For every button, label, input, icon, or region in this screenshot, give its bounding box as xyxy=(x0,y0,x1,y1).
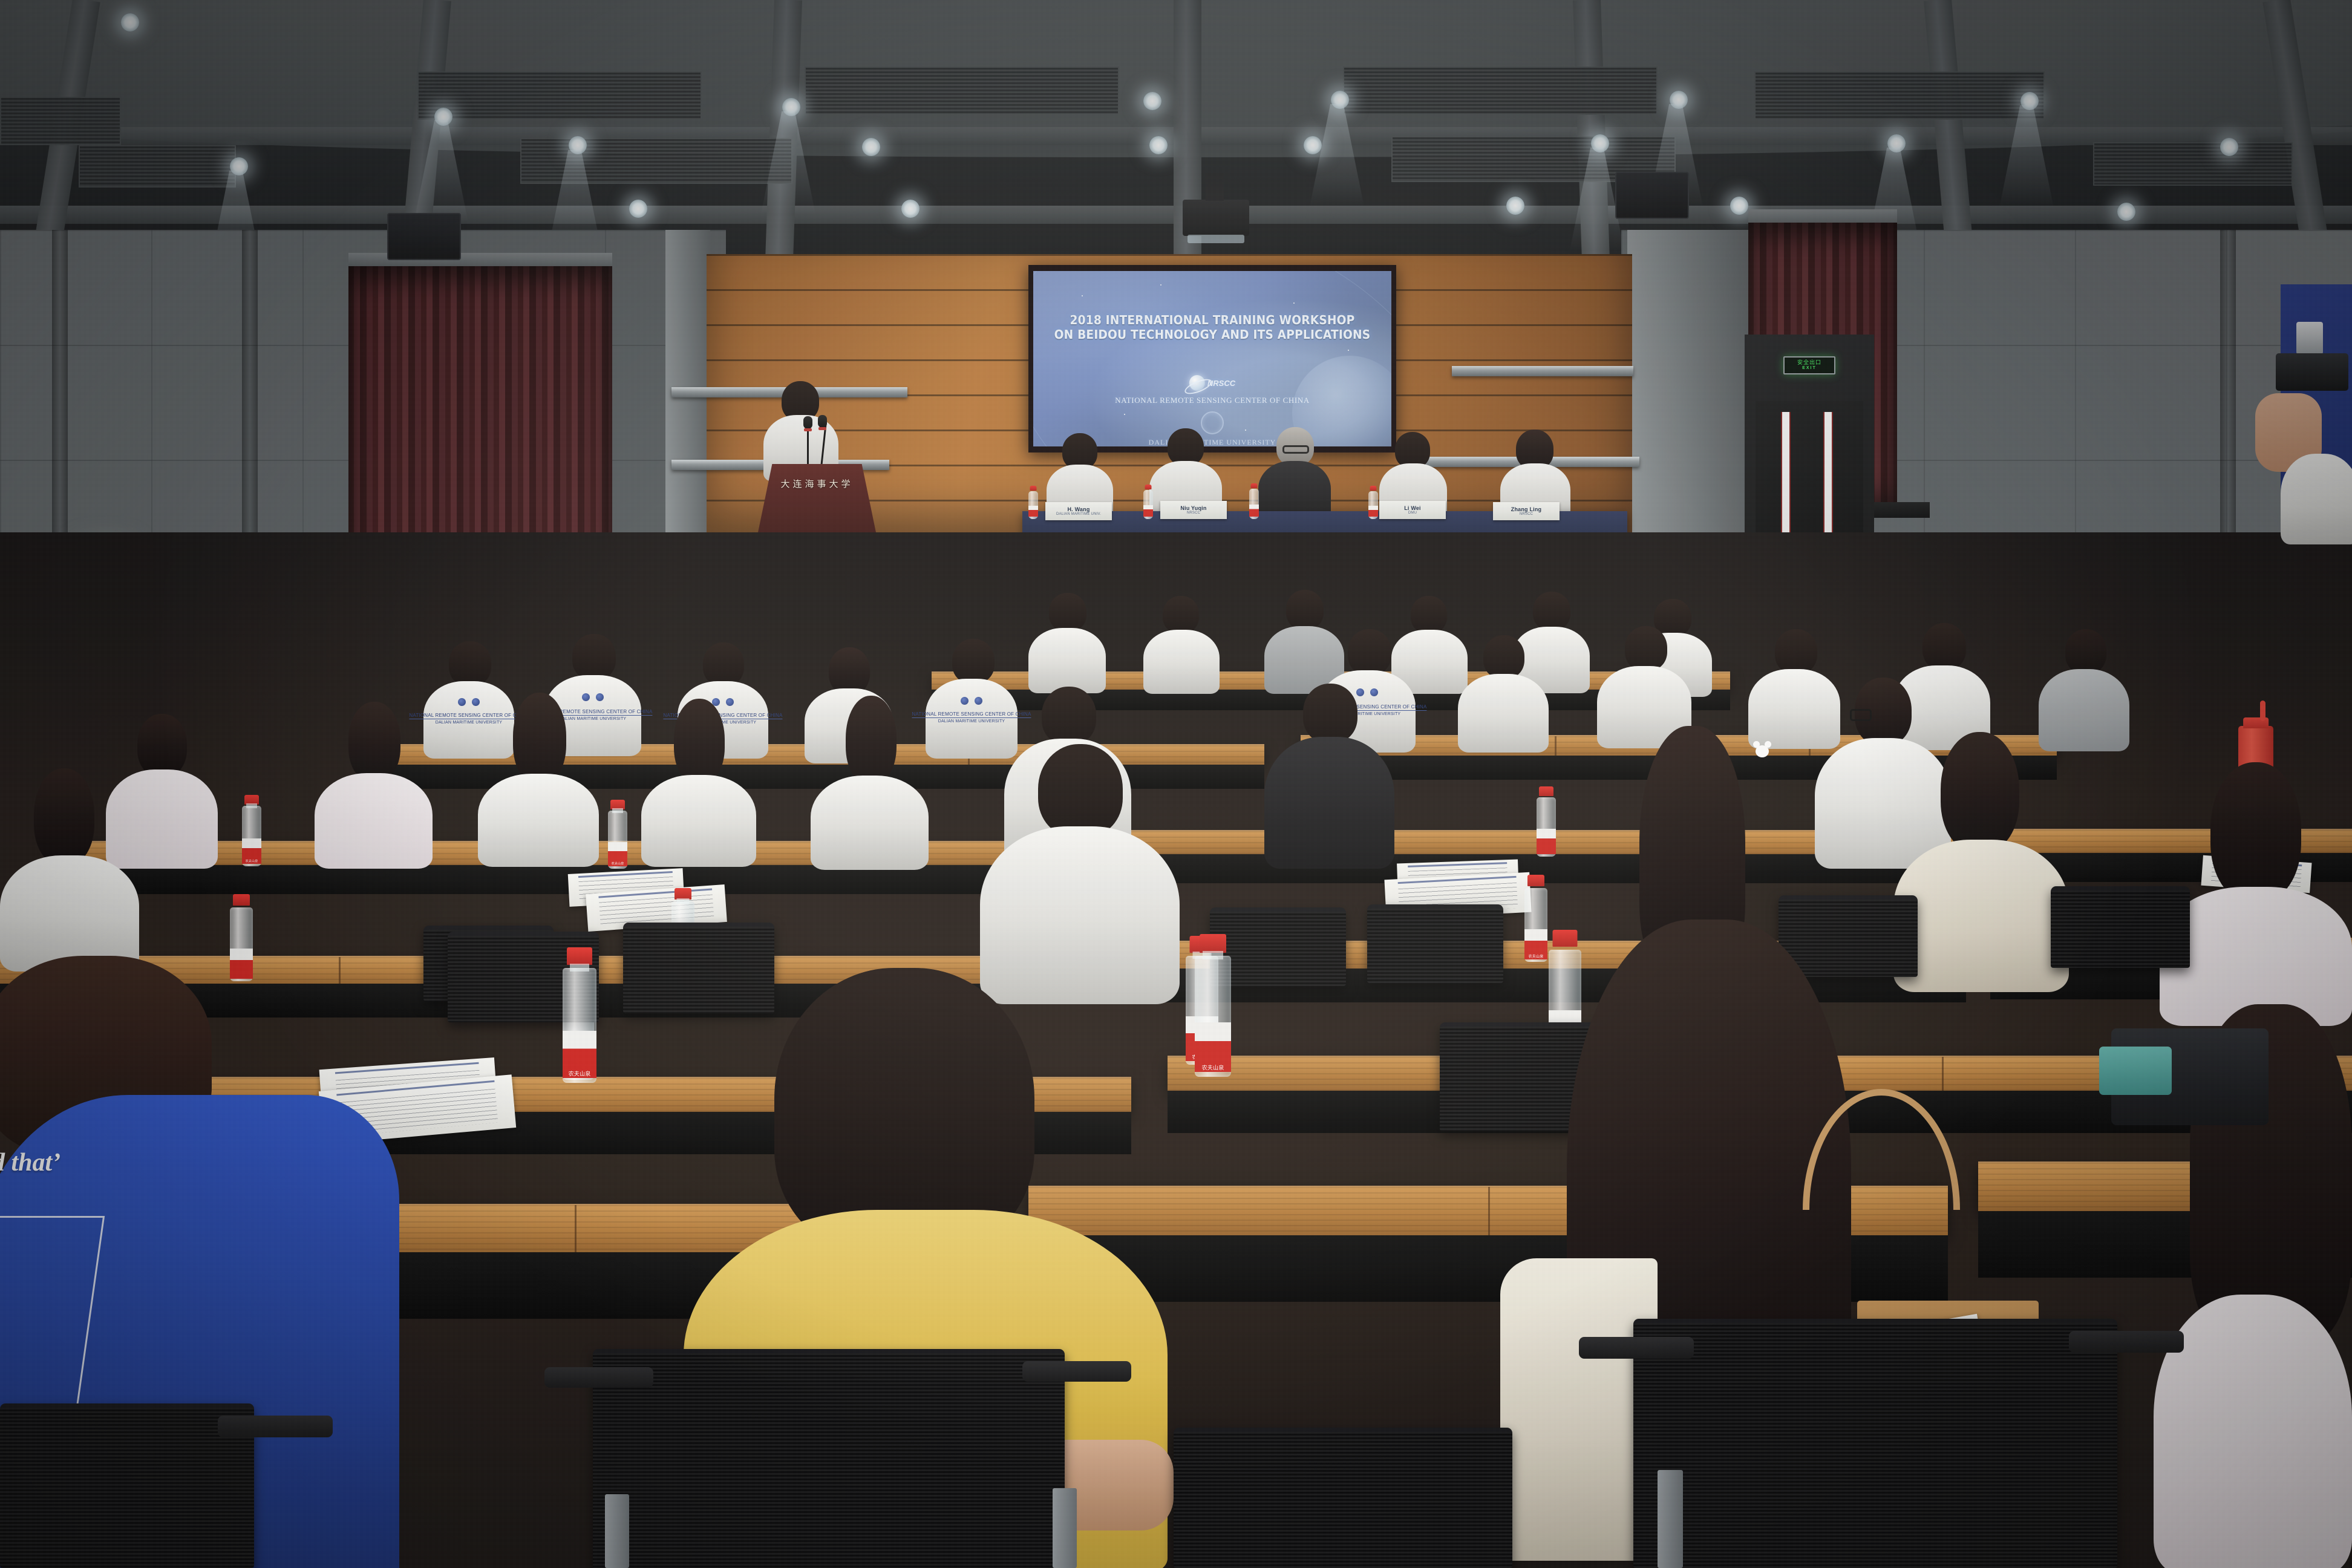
door-light-strip xyxy=(1823,412,1833,540)
elevator-doorway: 安全出口 EXIT xyxy=(1745,335,1874,534)
attendee-head xyxy=(829,647,870,694)
chair-foreground[interactable] xyxy=(0,1403,254,1568)
attendee-head xyxy=(1941,732,2019,852)
wall-speaker xyxy=(387,213,461,260)
ceiling-air-vent xyxy=(79,145,236,188)
bottle-brand: 农夫山泉 xyxy=(242,859,261,863)
panelist-head xyxy=(1395,432,1430,468)
nrscc-logo-text: NRSCC xyxy=(1207,379,1235,388)
ceiling-downlight xyxy=(782,98,800,116)
nrscc-logo: NRSCC xyxy=(1189,375,1235,391)
ceiling-downlight xyxy=(1730,197,1748,215)
exit-sign-chinese: 安全出口 xyxy=(1797,360,1821,365)
chair[interactable] xyxy=(1367,904,1503,983)
water-bottle[interactable]: 农夫山泉 xyxy=(1195,956,1231,1077)
exit-sign: 安全出口 EXIT xyxy=(1783,356,1835,374)
chair-post xyxy=(605,1494,629,1568)
chair-foreground[interactable] xyxy=(593,1349,1065,1568)
chair-armrest[interactable] xyxy=(1579,1337,1694,1359)
attendee-torso xyxy=(315,773,433,869)
ceiling-downlight xyxy=(230,157,248,175)
placard-name-text: H. Wang xyxy=(1067,506,1089,512)
chair-foreground[interactable] xyxy=(1174,1428,1512,1568)
curtain-rail xyxy=(1748,209,1897,223)
ceiling-downlight xyxy=(121,13,139,31)
attendee-torso xyxy=(1264,737,1394,869)
attendee-head xyxy=(34,768,94,865)
attendee-head xyxy=(1625,626,1667,671)
chair-post xyxy=(1658,1470,1683,1568)
water-bottle xyxy=(1368,491,1378,519)
ceiling-downlight xyxy=(2020,92,2039,110)
attendee xyxy=(1264,684,1394,865)
ceiling-downlight xyxy=(2117,203,2135,221)
ceiling-downlight xyxy=(1149,136,1168,154)
ceiling-downlight xyxy=(1506,197,1524,215)
water-bottle[interactable]: 农夫山泉 xyxy=(608,811,627,869)
water-bottle[interactable] xyxy=(1537,797,1556,857)
placard-name-text: Niu Yuqin xyxy=(1180,505,1206,511)
camera-flash xyxy=(2296,322,2323,354)
teal-cloth[interactable] xyxy=(2099,1047,2172,1095)
auditorium-photo: 2018 INTERNATIONAL TRAINING WORKSHOP ON … xyxy=(0,0,2352,1568)
attendee-head xyxy=(2210,762,2301,901)
attendee-head xyxy=(1922,623,1966,670)
chair-armrest[interactable] xyxy=(1022,1361,1131,1382)
attendee-head xyxy=(513,693,566,783)
disney-sticker xyxy=(1756,745,1769,757)
name-placard: Li Wei DMU xyxy=(1379,501,1446,519)
ceiling-downlight xyxy=(569,136,587,154)
name-placard: H. Wang DALIAN MARITIME UNIV. xyxy=(1045,502,1112,520)
attendee-torso xyxy=(811,776,929,870)
sunglasses-icon xyxy=(1850,709,1872,721)
attendee-torso xyxy=(478,774,599,867)
ceiling-downlight xyxy=(2220,138,2238,156)
attendee-head xyxy=(674,699,725,783)
wall-shelf-rail xyxy=(1452,366,1633,376)
photographer xyxy=(2238,339,2352,538)
attendee xyxy=(1028,593,1106,690)
attendee xyxy=(0,768,139,968)
attendee-head xyxy=(1049,593,1086,632)
ceiling-air-vent xyxy=(417,71,702,120)
ceiling-downlight xyxy=(434,108,452,126)
elevator-doors[interactable] xyxy=(1756,401,1863,534)
photographer-torso xyxy=(2281,454,2352,544)
wall-speaker xyxy=(1615,172,1689,219)
attendee-head xyxy=(348,702,400,782)
projection-screen-frame: 2018 INTERNATIONAL TRAINING WORKSHOP ON … xyxy=(1028,265,1396,452)
attendee-head xyxy=(703,642,744,686)
attendee-head xyxy=(1348,629,1391,675)
attendee xyxy=(315,702,433,865)
microphone xyxy=(803,416,812,429)
chair-post xyxy=(1053,1488,1077,1568)
attendee-head xyxy=(1303,684,1357,743)
attendee xyxy=(811,696,929,865)
attendee-head xyxy=(2065,629,2106,674)
tshirt-logo-marks xyxy=(961,697,982,705)
nrscc-logo-icon xyxy=(961,697,969,705)
ceiling-air-vent xyxy=(0,97,121,145)
attendee-head xyxy=(1286,590,1324,630)
nrscc-logo-icon xyxy=(458,698,466,706)
ceiling-downlight xyxy=(1887,134,1906,152)
ceiling-downlight xyxy=(1331,91,1349,109)
chair-armrest[interactable] xyxy=(218,1416,333,1437)
ceiling-downlight xyxy=(862,138,880,156)
chair-armrest[interactable] xyxy=(544,1367,653,1388)
tshirt-logo-marks xyxy=(458,698,480,706)
university-logo-icon xyxy=(975,697,982,705)
window-curtain xyxy=(348,264,612,578)
chair-armrest[interactable] xyxy=(2069,1331,2184,1353)
door-light-strip xyxy=(1781,412,1791,540)
wall-column xyxy=(1627,230,1748,544)
ceiling-downlight xyxy=(1591,134,1609,152)
ceiling-air-vent xyxy=(1754,71,2045,120)
attendee xyxy=(1143,596,1220,691)
water-bottle xyxy=(1249,489,1259,519)
camera-icon xyxy=(2276,353,2348,391)
ceiling-downlight xyxy=(1304,136,1322,154)
chair-foreground[interactable] xyxy=(1633,1319,2117,1568)
attendee-head xyxy=(846,696,897,784)
ceiling-downlight xyxy=(1143,92,1161,110)
attendee-head xyxy=(1775,629,1817,674)
attendee-head xyxy=(1483,635,1524,679)
attendee-head xyxy=(137,714,187,777)
ceiling-air-vent xyxy=(805,67,1119,115)
screen-title-line-2: ON BEIDOU TECHNOLOGY AND ITS APPLICATION… xyxy=(1046,328,1379,342)
podium-speaker xyxy=(761,381,840,478)
screen-title: 2018 INTERNATIONAL TRAINING WORKSHOP ON … xyxy=(1046,313,1379,342)
attendee-head xyxy=(1042,687,1096,745)
chair[interactable] xyxy=(2051,886,2190,968)
podium: 大连海事大学 xyxy=(758,464,876,532)
attendee-head xyxy=(449,641,491,686)
attendee xyxy=(1458,635,1549,751)
nrscc-logo-mark xyxy=(1189,375,1205,391)
attendee-head xyxy=(1533,592,1570,630)
water-bottle xyxy=(1143,490,1153,519)
placard-affiliation-text: NRSCC xyxy=(1187,511,1200,515)
exit-sign-english: EXIT xyxy=(1802,365,1817,371)
attendee-head xyxy=(1163,596,1199,633)
water-bottle[interactable]: 农夫山泉 xyxy=(563,968,596,1083)
panelist-head xyxy=(1062,433,1097,469)
placard-name-text: Zhang Ling xyxy=(1511,506,1542,512)
ceiling-downlight xyxy=(629,200,647,218)
attendee-head xyxy=(1411,596,1447,633)
bottle-brand: 农夫山泉 xyxy=(1195,1063,1231,1071)
ceiling-downlight xyxy=(901,200,920,218)
ceiling-downlight xyxy=(1670,91,1688,109)
ceiling-projector xyxy=(1183,200,1249,236)
attendee-torso xyxy=(1143,630,1220,694)
attendee xyxy=(980,744,1180,998)
placard-affiliation-text: NRSCC xyxy=(1520,512,1533,516)
ceiling-air-vent xyxy=(1343,67,1658,115)
name-placard: Zhang Ling NRSCC xyxy=(1493,502,1560,520)
ceiling-air-vent xyxy=(520,138,792,184)
bottle-brand: 农夫山泉 xyxy=(563,1070,596,1077)
attendee-torso xyxy=(0,855,139,972)
attendee xyxy=(478,693,599,863)
microphone xyxy=(818,415,827,428)
ceiling-air-vent xyxy=(2093,142,2293,186)
water-bottle xyxy=(1028,491,1038,519)
attendee xyxy=(641,699,756,863)
attendee-head xyxy=(1038,744,1123,837)
attendee-torso xyxy=(641,775,756,867)
blue-shirt-print-box xyxy=(0,1216,105,1416)
attendee-torso xyxy=(1458,674,1549,753)
attendee-head xyxy=(572,634,616,680)
placard-affiliation-text: DMU xyxy=(1408,511,1417,515)
projection-screen: 2018 INTERNATIONAL TRAINING WORKSHOP ON … xyxy=(1033,271,1391,446)
placard-name-text: Li Wei xyxy=(1404,505,1421,511)
name-placard: Niu Yuqin NRSCC xyxy=(1160,501,1227,519)
attendee-head xyxy=(952,639,995,684)
screen-organization: NATIONAL REMOTE SENSING CENTER OF CHINA xyxy=(1033,396,1391,405)
screen-title-line-1: 2018 INTERNATIONAL TRAINING WORKSHOP xyxy=(1046,313,1379,328)
panelist-head xyxy=(1168,428,1204,466)
panelist-with-glasses xyxy=(1258,427,1331,519)
attendee-torso xyxy=(1028,628,1106,693)
blue-shirt-print-text: said that’ xyxy=(0,1148,60,1177)
eyeglasses-icon xyxy=(1282,445,1309,454)
placard-affiliation-text: DALIAN MARITIME UNIV. xyxy=(1056,512,1101,516)
water-bottle[interactable]: 农夫山泉 xyxy=(242,806,261,866)
bottle-brand: 农夫山泉 xyxy=(608,861,627,866)
podium-institution-name: 大连海事大学 xyxy=(758,477,876,490)
